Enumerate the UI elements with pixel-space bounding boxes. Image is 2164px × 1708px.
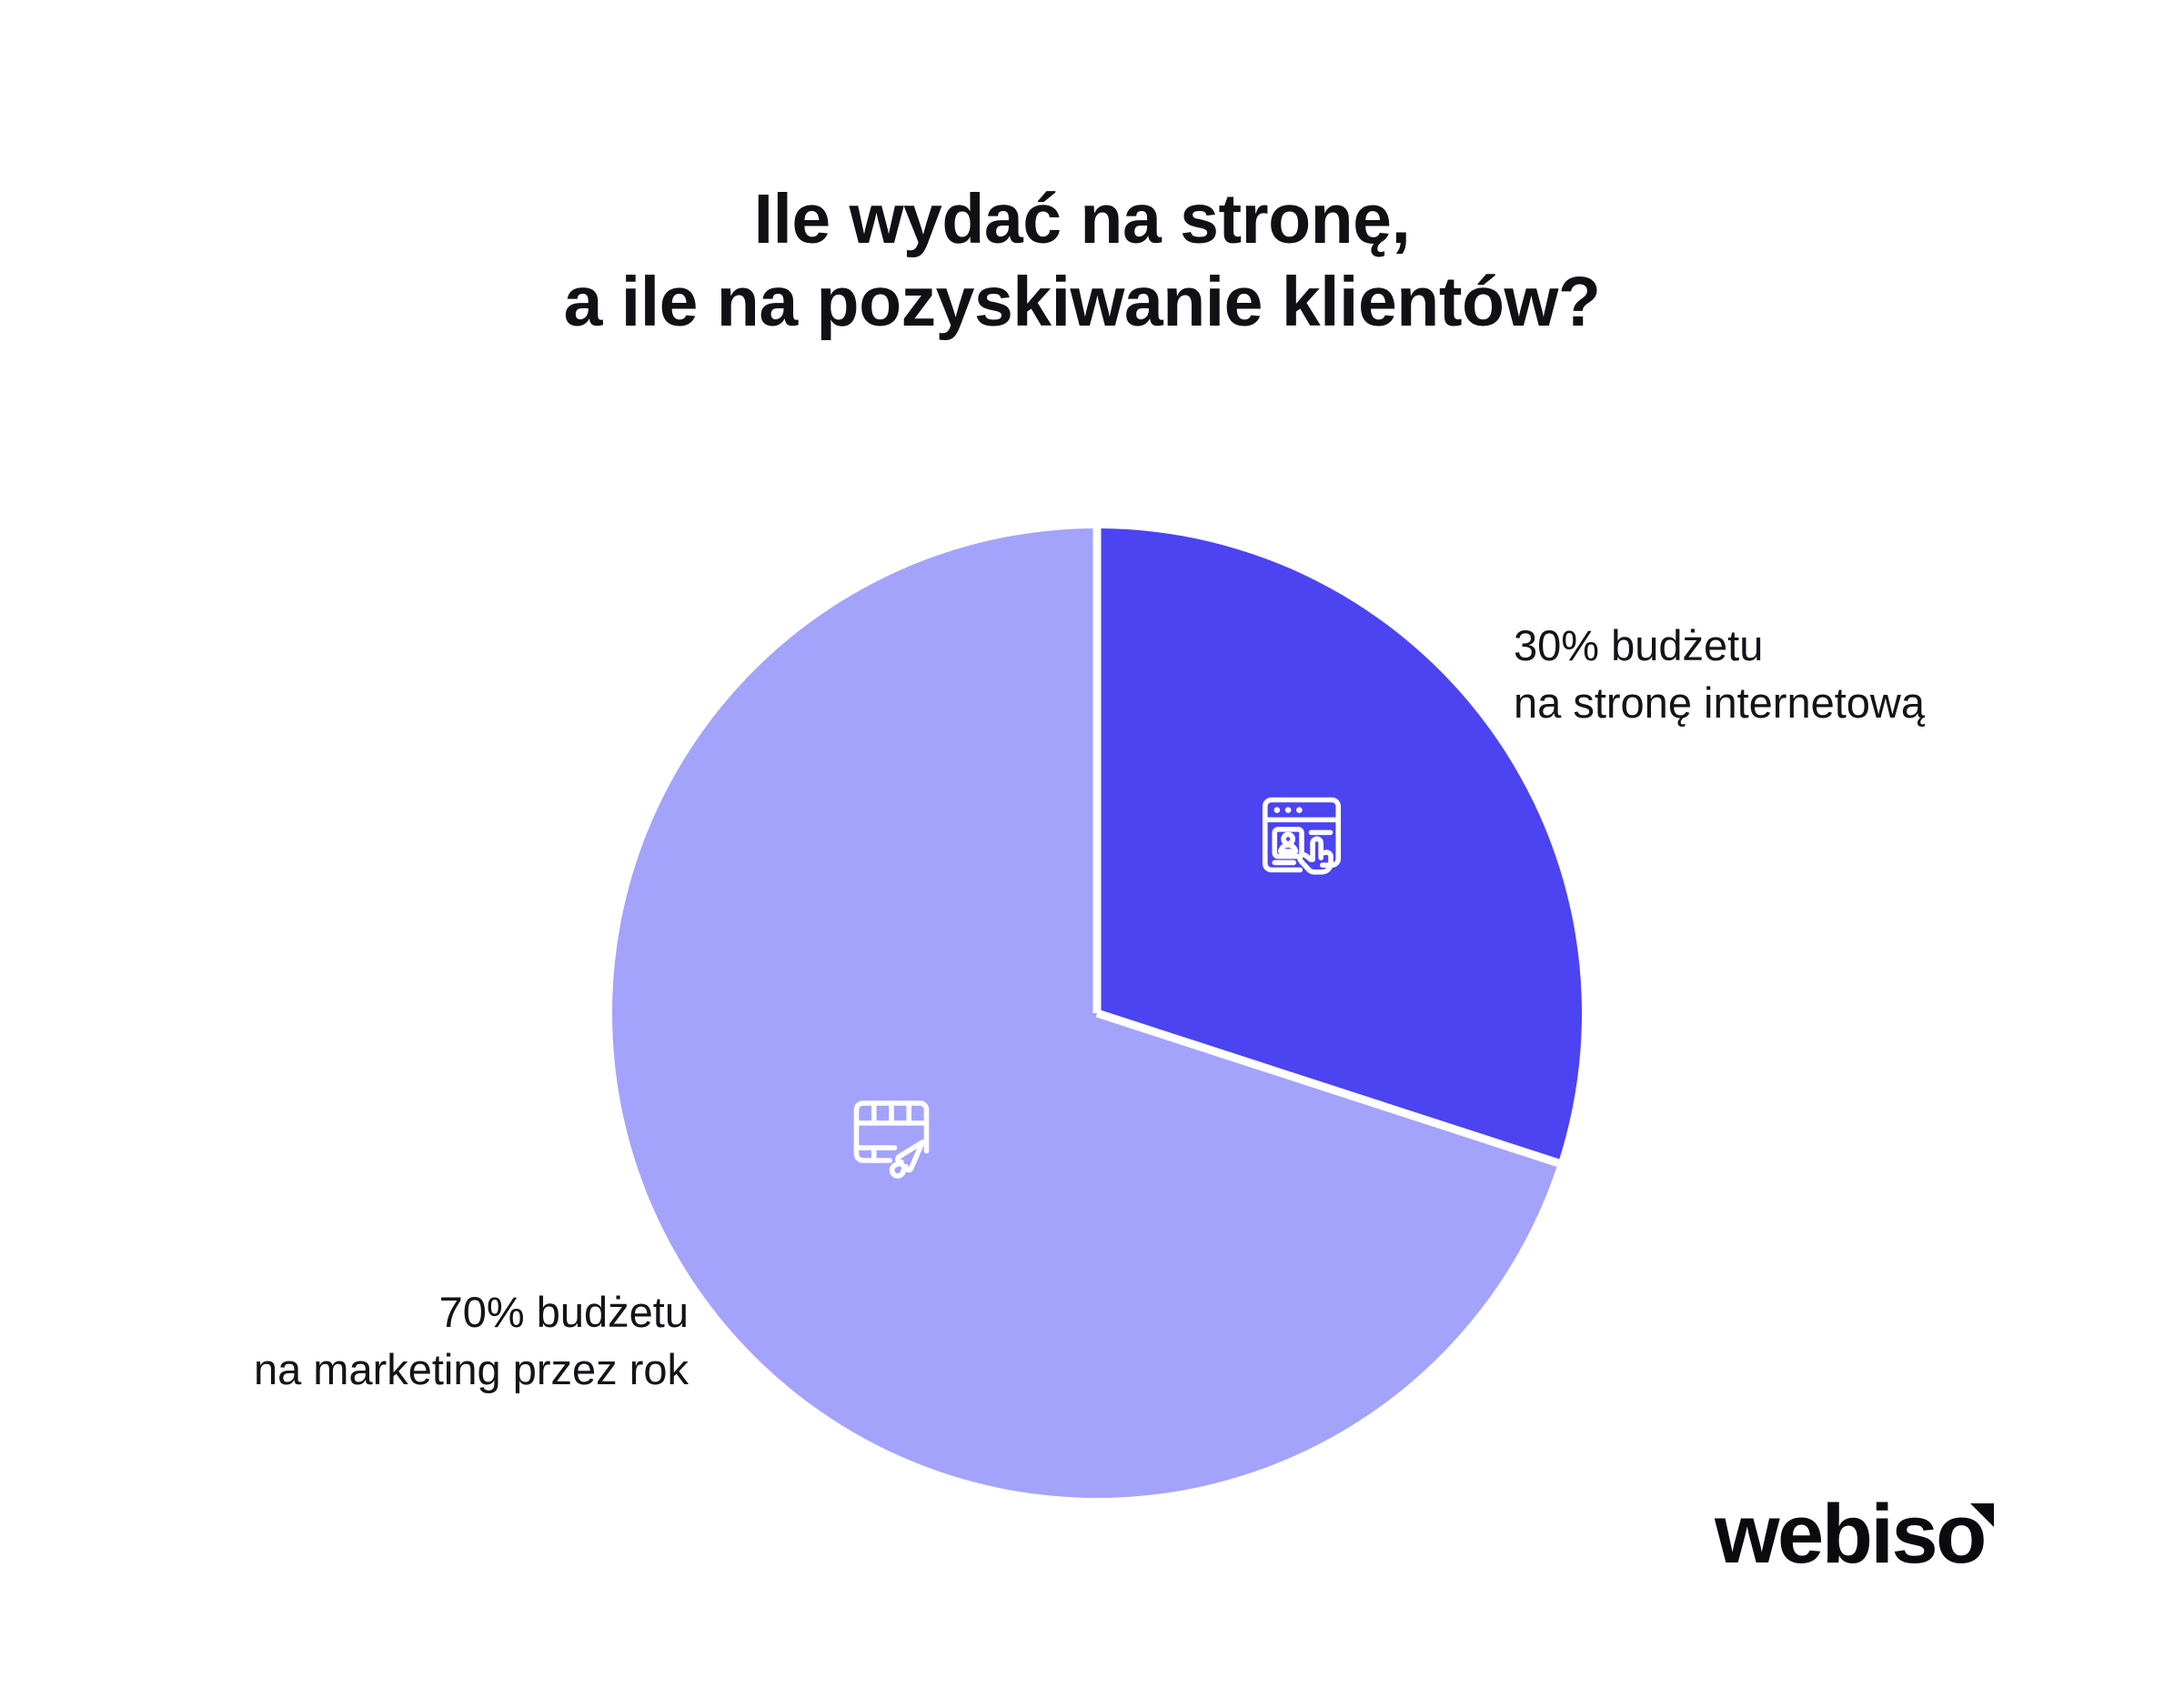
pie-label-marketing-line-2: na marketing przez rok [254,1341,689,1399]
page-title-line-1: Ile wydać na stronę, [0,178,2164,261]
browser-user-click-icon [1251,784,1353,886]
banner-megaphone-icon [840,1084,942,1186]
pie-label-marketing: 70% budżetu na marketing przez rok [254,1284,689,1398]
brand-logo-text: webiso [1715,1480,1985,1589]
brand-logo[interactable]: webiso [1715,1480,2015,1589]
page-title-line-2: a ile na pozyskiwanie klientów? [0,261,2164,344]
pie-label-website: 30% budżetu na stronę internetową [1514,618,1925,731]
pie-chart [612,528,1582,1498]
pie-label-marketing-line-1: 70% budżetu [254,1284,689,1341]
page-title: Ile wydać na stronę, a ile na pozyskiwan… [0,178,2164,344]
pie-label-website-line-1: 30% budżetu [1514,618,1925,675]
pie-label-website-line-2: na stronę internetową [1514,675,1925,732]
brand-logo-tick-icon [1970,1503,1994,1527]
